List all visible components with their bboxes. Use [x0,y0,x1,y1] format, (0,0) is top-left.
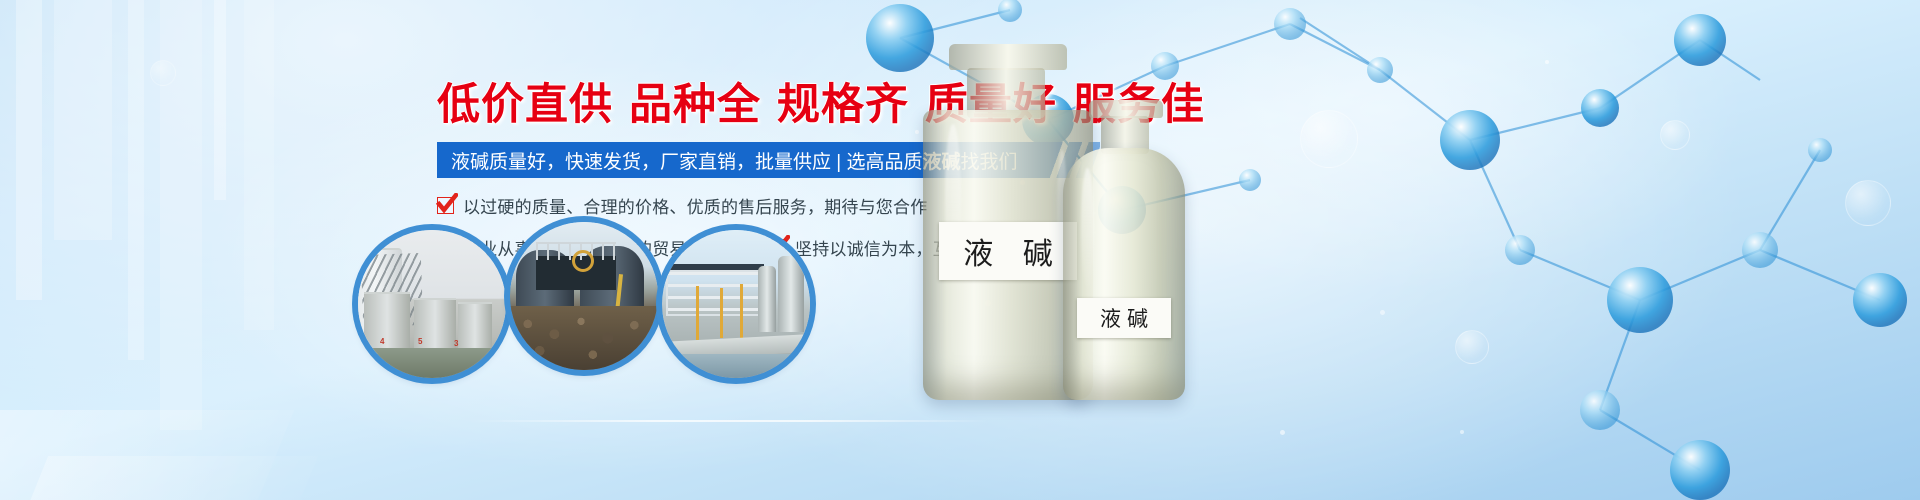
silo [778,256,804,332]
check-icon [437,197,454,214]
bottle-body: 液碱 [1063,148,1185,400]
decor-diagonal-band-1 [0,410,294,500]
tank [458,302,492,354]
pipe [740,284,743,340]
bottle-glint [1081,168,1094,288]
decor-bar-2 [54,0,112,240]
decor-bar-5 [214,0,226,200]
pipe [696,286,699,340]
photo-tank-farm: 4 5 3 [358,230,506,378]
bottle-small: 液碱 [1063,100,1185,400]
decor-bar-4 [160,0,202,430]
ground [358,348,506,378]
valve-wheel [572,250,594,272]
pipe [720,288,723,338]
feature-text: 以过硬的质量、合理的价格、优质的售后服务，期待与您合作 [463,193,927,218]
tank [364,292,410,354]
decor-diagonal-band-2 [12,456,318,500]
product-photo: 液 碱 液碱 [905,22,1215,422]
bottle-label-small: 液碱 [1077,298,1171,338]
photo-storage-tanks [510,222,658,370]
silo [758,266,776,332]
promo-banner: 低价直供 品种全 规格齐 质量好 服务佳 液碱质量好，快速发货，厂家直销，批量供… [0,0,1920,500]
decor-bar-6 [244,0,274,330]
subtitle-text: 液碱质量好，快速发货，厂家直销，批量供应 | 选高品质 [451,147,923,174]
basin [662,354,810,378]
bottle-stopper [949,44,1067,70]
rocky-embankment [510,306,658,370]
photo-plant [662,230,810,378]
decor-bar-3 [128,0,144,360]
bottle-label-large: 液 碱 [939,222,1077,280]
list-item: 以过硬的质量、合理的价格、优质的售后服务，期待与您合作 [437,193,927,218]
left-decor-bars [0,0,330,500]
decor-bar-1 [16,0,42,300]
steel-frame [666,270,762,316]
